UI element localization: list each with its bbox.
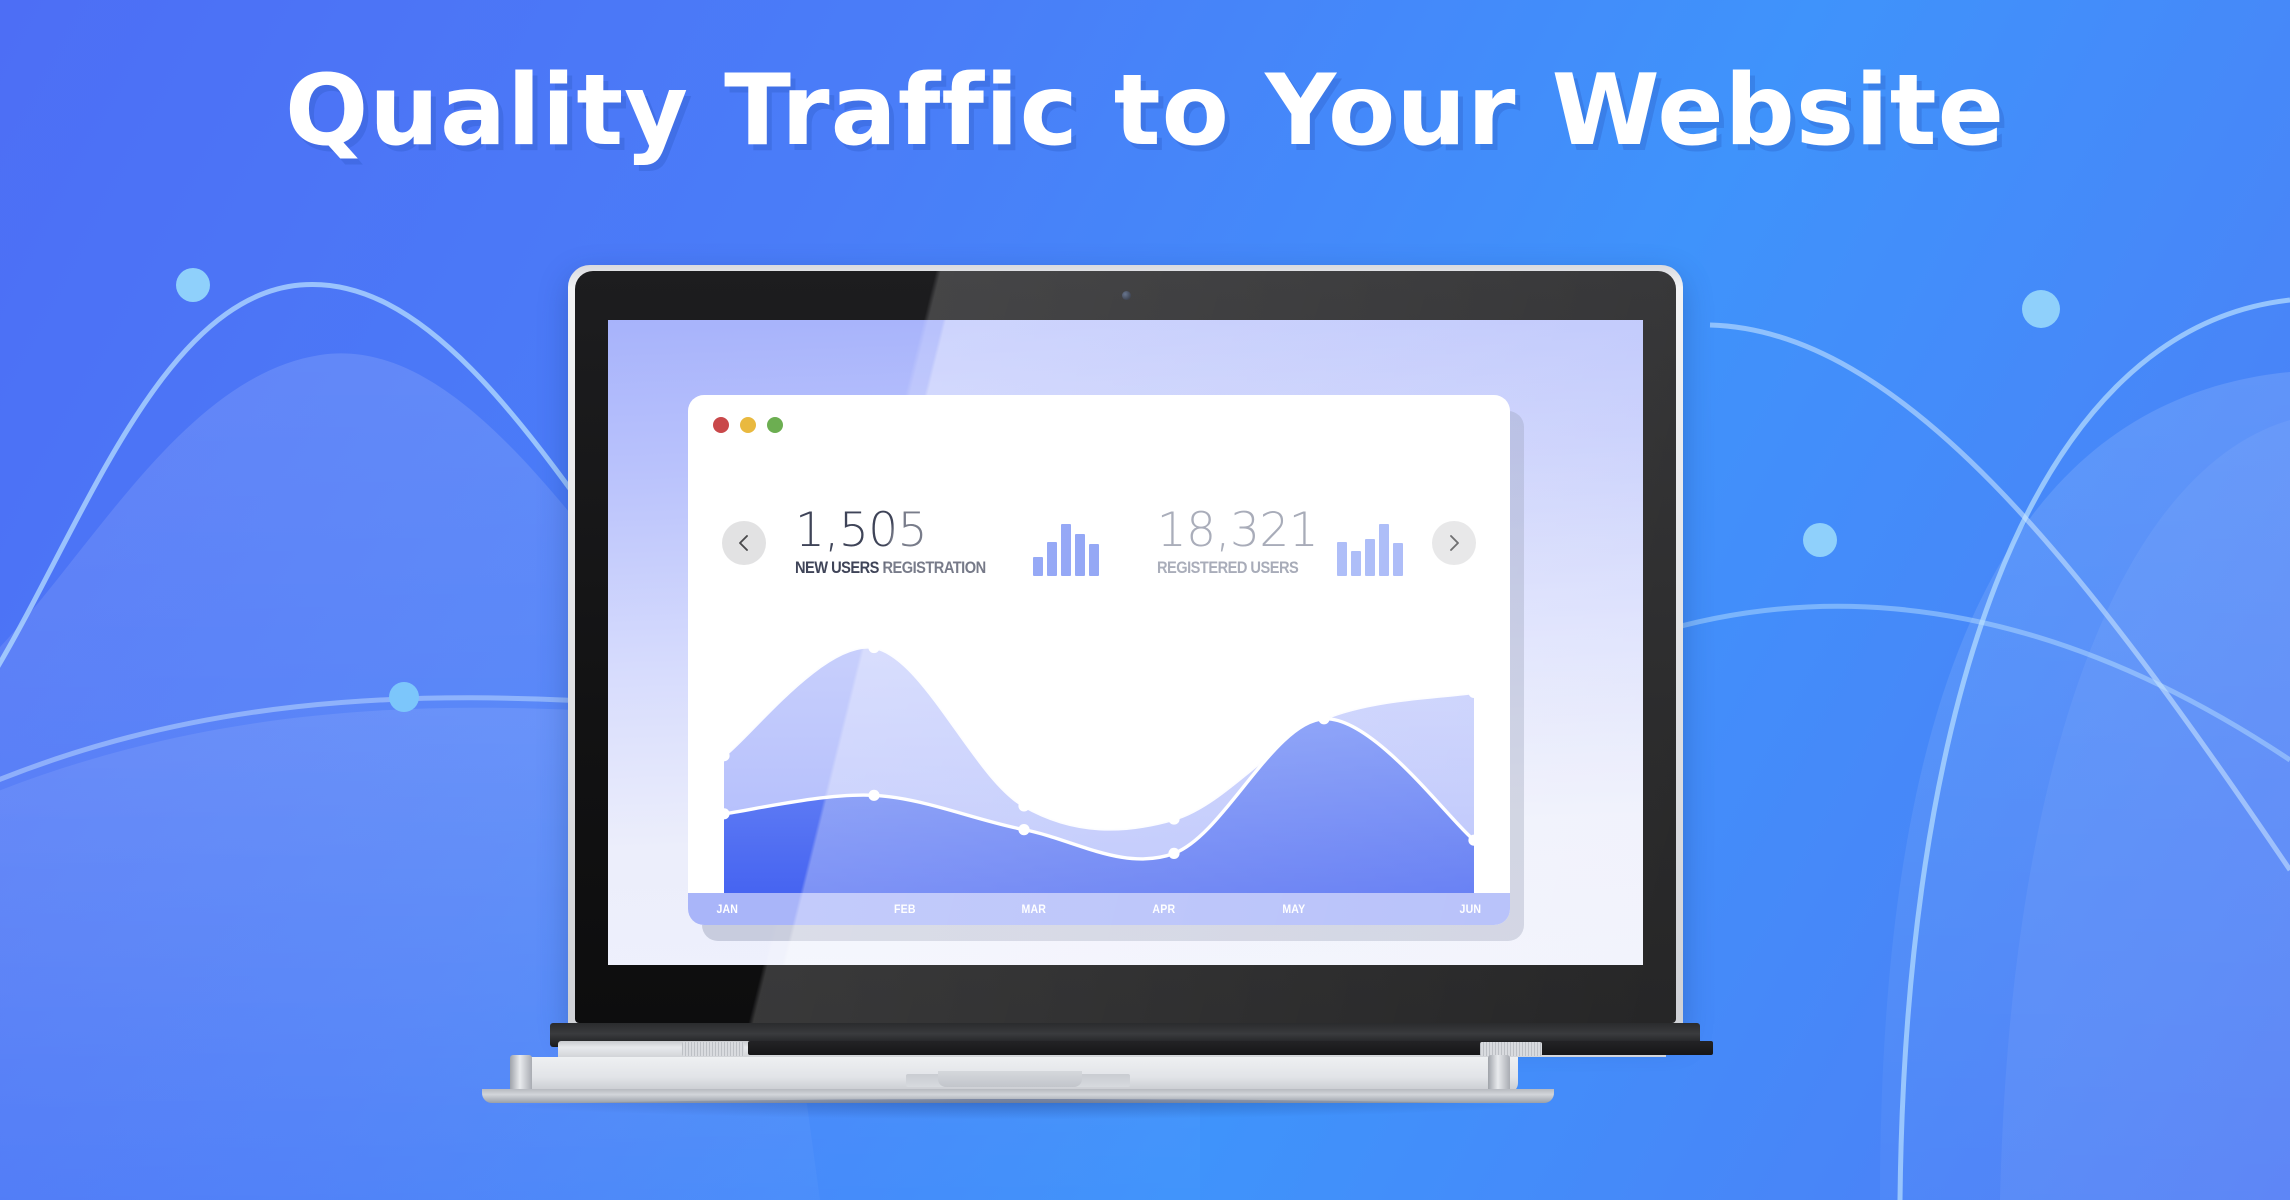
next-button[interactable]: [1432, 521, 1476, 565]
decor-node: [389, 682, 419, 712]
data-point-marker[interactable]: [1318, 713, 1329, 724]
sparkline-new-users: [1033, 526, 1099, 578]
axis-tick: FEB: [847, 902, 961, 916]
decor-node: [176, 268, 210, 302]
spark-bar: [1047, 542, 1057, 576]
data-point-marker[interactable]: [1168, 813, 1179, 824]
data-point-marker[interactable]: [1018, 824, 1029, 835]
base-side-cap-right: [1488, 1055, 1510, 1093]
axis-tick: JUN: [1367, 902, 1500, 916]
kpi-label: REGISTERED USERS: [1157, 558, 1298, 578]
data-point-marker[interactable]: [718, 808, 729, 819]
close-button[interactable]: [713, 417, 729, 433]
kpi-value: 18,321: [1157, 508, 1321, 554]
spark-bar: [1365, 539, 1375, 576]
webcam-icon: [1122, 291, 1131, 300]
window-controls: [713, 417, 783, 433]
drop-shadow: [474, 1099, 1564, 1119]
chart-x-axis: JANFEBMARAPRMAYJUN: [688, 893, 1510, 925]
data-point-marker[interactable]: [718, 750, 729, 761]
data-point-marker[interactable]: [1168, 848, 1179, 859]
data-point-marker[interactable]: [868, 790, 879, 801]
prev-button[interactable]: [722, 521, 766, 565]
lid-release-notch: [938, 1071, 1082, 1087]
spark-bar: [1075, 534, 1085, 575]
laptop-base: [440, 1041, 1580, 1099]
spark-bar: [1379, 524, 1389, 576]
poster-stage: Quality Traffic to Your Website: [0, 0, 2290, 1200]
chevron-left-icon: [734, 533, 754, 553]
kpi-row: 1,505 NEW USERS REGISTRATION 18,321: [688, 483, 1510, 603]
decor-node: [1803, 523, 1837, 557]
base-side-cap-left: [510, 1055, 532, 1093]
axis-tick: JAN: [697, 902, 830, 916]
kpi-text: 18,321 REGISTERED USERS: [1157, 508, 1321, 577]
data-point-marker[interactable]: [1468, 835, 1479, 846]
page-title: Quality Traffic to Your Website: [0, 62, 2290, 160]
data-point-marker[interactable]: [1018, 800, 1029, 811]
kpi-label: NEW USERS REGISTRATION: [795, 558, 986, 578]
speaker-grille-right: [1480, 1042, 1542, 1056]
minimize-button[interactable]: [740, 417, 756, 433]
laptop-screen: 1,505 NEW USERS REGISTRATION 18,321: [608, 320, 1643, 965]
speaker-grille-left: [682, 1042, 744, 1056]
chart-canvas: [688, 615, 1510, 893]
laptop-lid: 1,505 NEW USERS REGISTRATION 18,321: [568, 265, 1683, 1030]
axis-tick: MAY: [1236, 902, 1350, 916]
spark-bar: [1351, 551, 1361, 575]
axis-tick: APR: [1107, 902, 1221, 916]
data-point-marker[interactable]: [868, 642, 879, 653]
sparkline-registered-users: [1337, 526, 1403, 578]
spark-bar: [1337, 542, 1347, 576]
kpi-value: 1,505: [795, 508, 1017, 554]
kpi-list: 1,505 NEW USERS REGISTRATION 18,321: [766, 508, 1432, 577]
spark-bar: [1393, 543, 1403, 576]
decor-node: [2022, 290, 2060, 328]
keyboard[interactable]: [748, 1041, 1713, 1055]
maximize-button[interactable]: [767, 417, 783, 433]
dashboard-card: 1,505 NEW USERS REGISTRATION 18,321: [688, 395, 1510, 925]
chevron-right-icon: [1444, 533, 1464, 553]
traffic-area-chart: JANFEBMARAPRMAYJUN: [688, 615, 1510, 925]
data-point-marker[interactable]: [1468, 687, 1479, 698]
spark-bar: [1089, 544, 1099, 576]
spark-bar: [1061, 524, 1071, 576]
kpi-text: 1,505 NEW USERS REGISTRATION: [795, 508, 1017, 577]
axis-tick: MAR: [977, 902, 1091, 916]
spark-bar: [1033, 557, 1043, 575]
laptop-mockup: 1,505 NEW USERS REGISTRATION 18,321: [440, 265, 1580, 1095]
kpi-new-users[interactable]: 1,505 NEW USERS REGISTRATION: [795, 508, 1099, 577]
kpi-registered-users[interactable]: 18,321 REGISTERED USERS: [1157, 508, 1403, 577]
